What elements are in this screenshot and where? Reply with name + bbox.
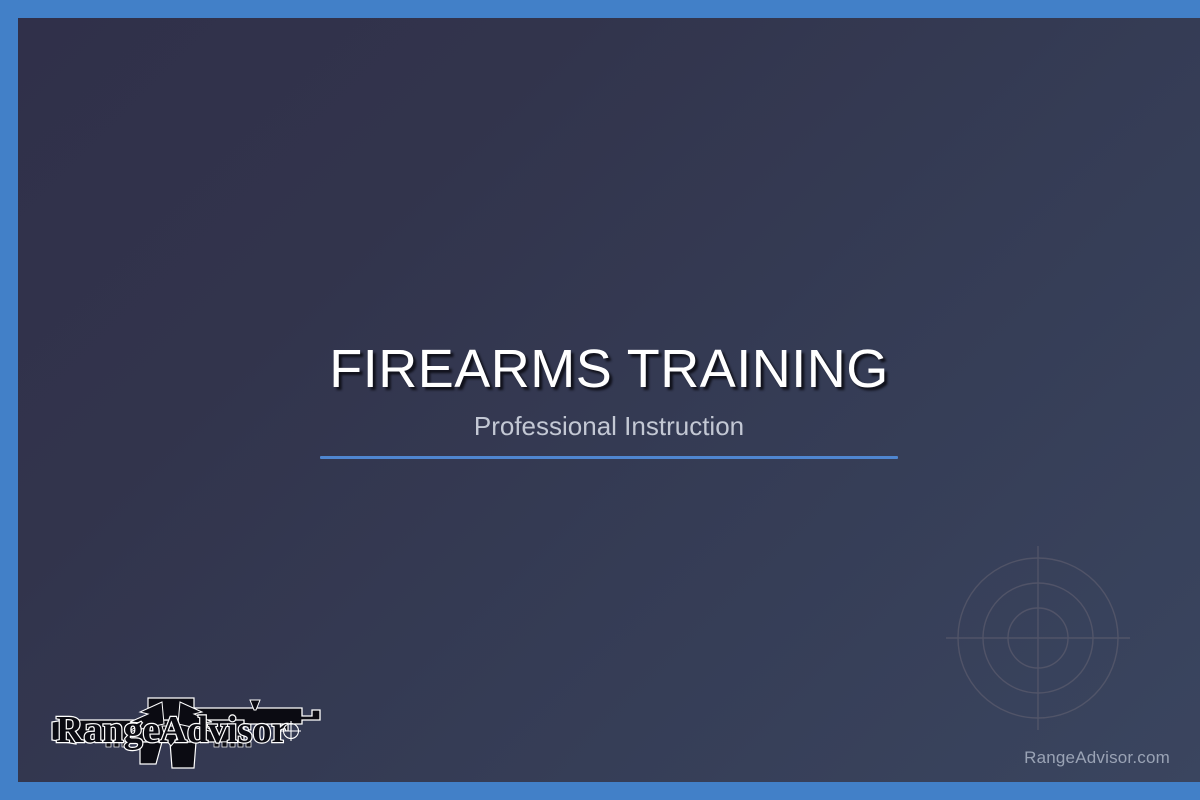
slide-frame-bottom-band: [0, 782, 1200, 800]
title-divider-rule: [320, 456, 898, 459]
logo-artwork: RangeAdvisor: [52, 698, 320, 768]
slide-frame-left-band: [0, 0, 18, 800]
presentation-slide: FIREARMS TRAINING Professional Instructi…: [0, 0, 1200, 800]
brand-logo: RangeAdvisor: [44, 690, 326, 770]
slide-frame-top-band: [0, 0, 1200, 18]
page-subtitle: Professional Instruction: [18, 412, 1200, 441]
footer-url: RangeAdvisor.com: [1024, 748, 1170, 768]
logo-wordmark-text: RangeAdvisor: [56, 709, 288, 751]
page-title: FIREARMS TRAINING: [18, 340, 1200, 398]
crosshair-target-icon: [938, 538, 1138, 738]
slide-canvas: FIREARMS TRAINING Professional Instructi…: [18, 18, 1200, 782]
title-block: FIREARMS TRAINING Professional Instructi…: [18, 340, 1200, 459]
